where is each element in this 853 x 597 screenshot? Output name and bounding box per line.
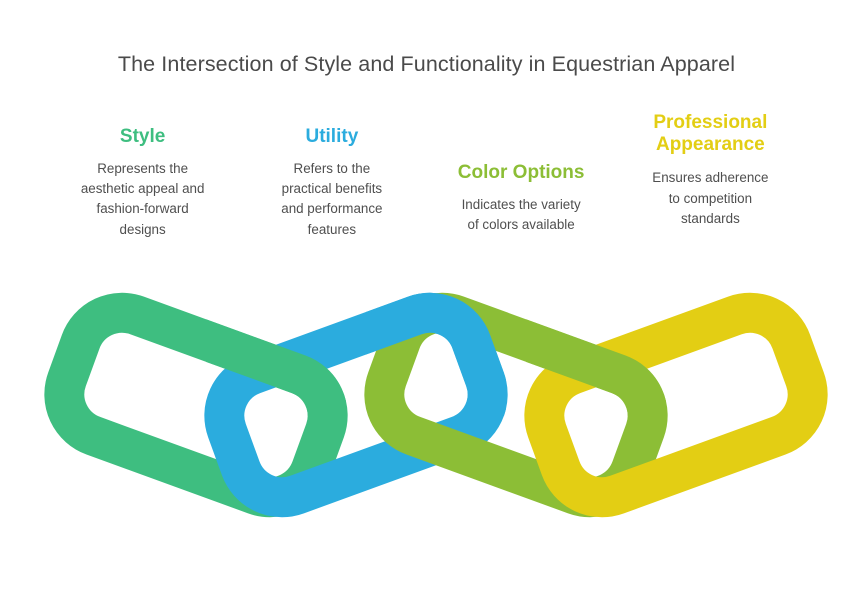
concept-column-style: Style Represents the aesthetic appeal an… [48,104,237,240]
concept-body-professional-appearance: Ensures adherence to competition standar… [622,168,799,228]
chain-link-professional-appearance [532,300,820,509]
concept-heading-professional-appearance: Professional Appearance [622,112,799,156]
concept-body-style: Represents the aesthetic appeal and fash… [54,159,231,239]
concept-heading-utility: Utility [243,126,420,148]
page-title: The Intersection of Style and Functional… [0,52,853,78]
infographic-canvas: The Intersection of Style and Functional… [0,0,853,597]
concept-body-color-options: Indicates the variety of colors availabl… [433,195,610,235]
concept-column-professional-appearance: Professional Appearance Ensures adherenc… [616,104,805,229]
concept-heading-color-options: Color Options [433,162,610,184]
concept-column-color-options: Color Options Indicates the variety of c… [427,104,616,235]
concept-columns: Style Represents the aesthetic appeal an… [48,104,805,254]
chain-links-svg [0,284,853,536]
chain-graphic [0,284,853,536]
concept-column-utility: Utility Refers to the practical benefits… [237,104,426,240]
concept-body-utility: Refers to the practical benefits and per… [243,159,420,239]
concept-heading-style: Style [54,126,231,148]
